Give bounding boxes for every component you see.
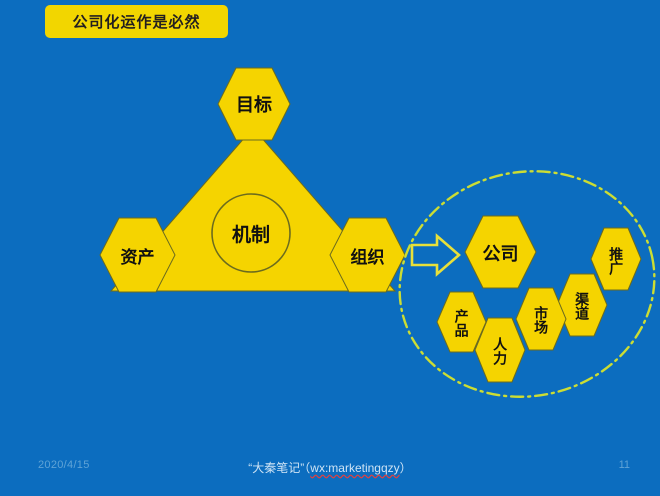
hexagon-company — [465, 216, 536, 288]
right-arrow-icon — [412, 236, 459, 274]
slide-canvas: 公司化运作是必然 目标 机制 — [0, 0, 660, 496]
hexagon-channel — [557, 274, 607, 336]
footer-center-text: “大秦笔记”（wx:marketingqzy） — [0, 459, 660, 476]
footer-page-number: 11 — [619, 459, 630, 471]
hexagon-promotion — [591, 228, 641, 290]
diagram-graphics — [0, 0, 660, 496]
footer-paren-close: ） — [400, 461, 412, 475]
footer-quote: “大秦笔记”（ — [248, 461, 310, 475]
footer-wechat-id: wx:marketingqzy — [310, 461, 399, 475]
hexagon-market — [516, 288, 566, 350]
mechanism-circle — [212, 194, 290, 272]
hexagon-goal — [218, 68, 290, 140]
